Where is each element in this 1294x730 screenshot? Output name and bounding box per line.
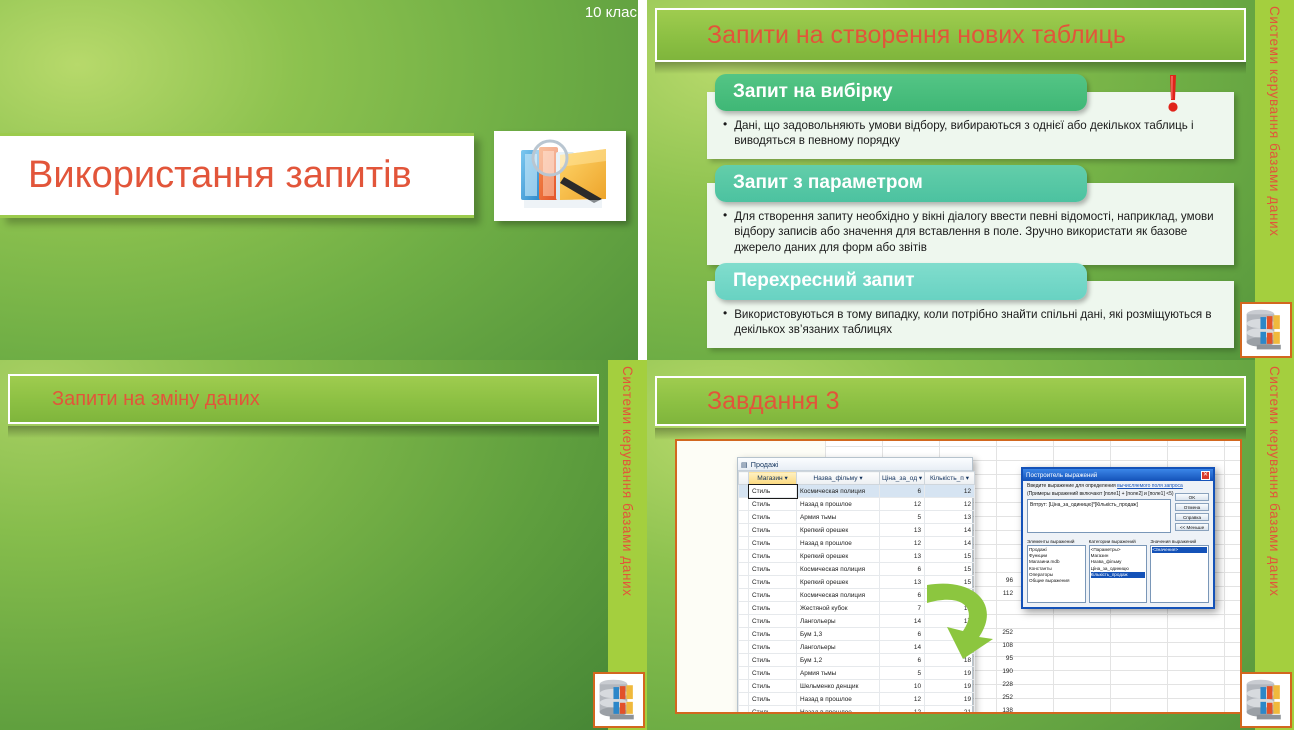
query-block-crosstab: • Використовуються в тому випадку, коли … xyxy=(707,263,1234,341)
table-cell[interactable]: 19 xyxy=(925,693,975,706)
slide2-titlebar: Запити на створення нових таблиць xyxy=(655,8,1246,62)
database-books-icon xyxy=(593,672,645,728)
table-cell[interactable]: 5 xyxy=(880,511,925,524)
table-cell[interactable]: Лангольеры xyxy=(797,615,880,628)
curved-green-arrow-icon xyxy=(917,581,1005,661)
query-block-text: Для створення запиту необхідно у вікні д… xyxy=(734,209,1220,255)
slide1-right-edge xyxy=(638,0,647,360)
table-cell[interactable]: Стиль xyxy=(749,537,797,550)
table-cell[interactable]: 19 xyxy=(925,667,975,680)
table-row[interactable]: СтильАрмия тьмы513 xyxy=(739,511,975,524)
row-selector[interactable] xyxy=(739,602,749,615)
list-item[interactable]: Кількість_продаж xyxy=(1091,572,1146,578)
row-selector[interactable] xyxy=(739,589,749,602)
help-button[interactable]: Справка xyxy=(1175,513,1209,521)
title-card: Використання запитів xyxy=(0,133,474,218)
slide-modify-data-queries: Запити на зміну даних На створення нової… xyxy=(0,360,647,730)
table-cell[interactable]: 12 xyxy=(925,485,975,498)
table-cell[interactable]: Космическая полиция xyxy=(797,485,880,498)
slide-task-3: Завдання 3 ание Перекрестный Удаление К … xyxy=(647,360,1294,730)
column-header-qty[interactable]: Кількість_п ▾ xyxy=(925,472,975,485)
calculated-cell xyxy=(973,496,1017,509)
slide3-titlebar: Запити на зміну даних xyxy=(8,374,599,424)
bullet-dot: • xyxy=(723,307,727,338)
table-icon: ▤ xyxy=(741,460,748,469)
table-cell[interactable]: Крепкий орешек xyxy=(797,576,880,589)
side-band-text: Системи керування базами даних xyxy=(1267,6,1282,237)
query-block-caption[interactable]: Запит на вибірку xyxy=(715,74,1087,111)
table-cell[interactable]: Стиль xyxy=(749,550,797,563)
row-selector[interactable] xyxy=(739,693,749,706)
table-cell[interactable]: Стиль xyxy=(749,563,797,576)
calculated-cell xyxy=(973,535,1017,548)
table-cell[interactable]: Космическая полиция xyxy=(797,589,880,602)
table-cell[interactable]: Стиль xyxy=(749,576,797,589)
query-block-caption[interactable]: Запит з параметром xyxy=(715,165,1087,202)
calculated-cell xyxy=(973,548,1017,561)
table-cell[interactable]: 13 xyxy=(925,511,975,524)
slide-title: 10 клас Використання запитів xyxy=(0,0,647,360)
dialog-hint-link[interactable]: вычисляемого поля запроса xyxy=(1117,483,1183,489)
row-selector[interactable] xyxy=(739,667,749,680)
query-block-select: • Дані, що задовольняють умови відбору, … xyxy=(707,74,1234,144)
table-cell[interactable]: Назад в прошлое xyxy=(797,706,880,715)
table-cell[interactable]: 14 xyxy=(925,524,975,537)
calculated-cell: 138 xyxy=(973,704,1017,714)
exclamation-mark-icon xyxy=(1165,74,1181,114)
dialog-buttons: OK Отмена Справка << Меньше xyxy=(1175,493,1209,531)
table-row[interactable]: СтильКосмическая полиция615 xyxy=(739,563,975,576)
table-cell[interactable]: 12 xyxy=(880,693,925,706)
title-shadow xyxy=(655,62,1246,74)
page-title: Запити на зміну даних xyxy=(10,388,260,411)
table-cell[interactable]: 15 xyxy=(925,550,975,563)
dialog-titlebar: Построитель выражений ✕ xyxy=(1023,469,1213,481)
page-title: Використання запитів xyxy=(0,154,412,197)
calculated-cell xyxy=(973,522,1017,535)
table-cell[interactable]: 12 xyxy=(880,706,925,715)
table-cell[interactable]: 6 xyxy=(880,485,925,498)
table-cell[interactable]: 13 xyxy=(880,550,925,563)
table-cell[interactable]: Бум 1,3 xyxy=(797,628,880,641)
grade-label: 10 клас xyxy=(585,4,637,21)
table-row[interactable]: СтильКрепкий орешек1314 xyxy=(739,524,975,537)
column-header-magazin[interactable]: Магазин ▾ xyxy=(749,472,797,485)
slide-create-table-queries: Запити на створення нових таблиць • Дані… xyxy=(647,0,1294,360)
table-cell[interactable]: Назад в прошлое xyxy=(797,693,880,706)
table-cell[interactable]: Назад в прошлое xyxy=(797,498,880,511)
column-header-price[interactable]: Ціна_за_од ▾ xyxy=(880,472,925,485)
row-selector[interactable] xyxy=(739,680,749,693)
slide4-titlebar: Завдання 3 xyxy=(655,376,1246,426)
list-item[interactable]: Общие выражения xyxy=(1029,578,1084,584)
table-cell[interactable]: 15 xyxy=(925,563,975,576)
query-block-text: Використовуються в тому випадку, коли по… xyxy=(734,307,1220,338)
bullet-dot: • xyxy=(723,118,727,149)
row-selector[interactable] xyxy=(739,706,749,715)
table-cell[interactable]: Лангольеры xyxy=(797,641,880,654)
table-cell[interactable]: 14 xyxy=(925,537,975,550)
table-header-row: Магазин ▾ Назва_фільму ▾ Ціна_за_од ▾ Кі… xyxy=(739,472,975,485)
table-cell[interactable]: Стиль xyxy=(749,641,797,654)
column-label: Значения выражений xyxy=(1150,539,1209,544)
calculated-cell: 252 xyxy=(973,691,1017,704)
table-cell[interactable]: 21 xyxy=(925,706,975,715)
row-selector[interactable] xyxy=(739,537,749,550)
row-selector[interactable] xyxy=(739,485,749,498)
table-cell[interactable]: Стиль xyxy=(749,589,797,602)
table-cell[interactable]: Стиль xyxy=(749,693,797,706)
table-cell[interactable]: Стиль xyxy=(749,628,797,641)
expression-elements-column: Элементы выражений ПродажіФункцииМагазин… xyxy=(1027,539,1086,603)
table-cell[interactable]: 13 xyxy=(880,524,925,537)
table-cell[interactable]: Шельменко денщик xyxy=(797,680,880,693)
table-cell[interactable]: Стиль xyxy=(749,654,797,667)
title-shadow xyxy=(8,426,599,438)
table-cell[interactable]: Стиль xyxy=(749,680,797,693)
list-item: • Для створення запиту необхідно у вікні… xyxy=(723,209,1220,255)
table-cell[interactable]: Крепкий орешек xyxy=(797,550,880,563)
column-header-film[interactable]: Назва_фільму ▾ xyxy=(797,472,880,485)
calculated-cell xyxy=(973,470,1017,483)
table-cell[interactable]: Назад в прошлое xyxy=(797,537,880,550)
query-block-caption[interactable]: Перехресний запит xyxy=(715,263,1087,300)
table-row[interactable]: СтильНазад в прошлое1212 xyxy=(739,498,975,511)
row-selector[interactable] xyxy=(739,641,749,654)
table-cell[interactable]: Жестяной кубок xyxy=(797,602,880,615)
table-cell[interactable]: Стиль xyxy=(749,511,797,524)
table-cell[interactable]: 12 xyxy=(880,537,925,550)
table-cell[interactable]: Крепкий орешек xyxy=(797,524,880,537)
less-button[interactable]: << Меньше xyxy=(1175,523,1209,531)
table-cell[interactable]: Армия тьмы xyxy=(797,511,880,524)
table-row[interactable]: СтильНазад в прошлое1219 xyxy=(739,693,975,706)
calculated-cell xyxy=(973,561,1017,574)
expression-values-list[interactable]: <Значение> xyxy=(1150,545,1209,603)
list-item[interactable]: <Значение> xyxy=(1152,547,1207,553)
table-cell[interactable]: 12 xyxy=(880,498,925,511)
page-title: Запити на створення нових таблиць xyxy=(657,21,1126,50)
page-title: Завдання 3 xyxy=(657,387,840,416)
ok-button[interactable]: OK xyxy=(1175,493,1209,501)
expression-categories-column: Категории выражений <Параметры>МагазинНа… xyxy=(1089,539,1148,603)
list-item: • Дані, що задовольняють умови відбору, … xyxy=(723,118,1220,149)
datasheet-titlebar: ▤ Продажі xyxy=(738,458,972,471)
table-cell[interactable]: Бум 1,2 xyxy=(797,654,880,667)
table-row[interactable]: СтильНазад в прошлое1214 xyxy=(739,537,975,550)
row-selector[interactable] xyxy=(739,524,749,537)
table-row[interactable]: СтильКосмическая полиция612 xyxy=(739,485,975,498)
database-books-icon xyxy=(1240,672,1292,728)
column-label: Категории выражений xyxy=(1089,539,1148,544)
row-selector[interactable] xyxy=(739,628,749,641)
table-row[interactable]: СтильШельменко денщик1019 xyxy=(739,680,975,693)
table-cell[interactable]: Космическая полиция xyxy=(797,563,880,576)
table-cell[interactable]: Стиль xyxy=(749,485,797,498)
row-selector[interactable] xyxy=(739,563,749,576)
datasheet-title: Продажі xyxy=(751,460,779,469)
expression-categories-list[interactable]: <Параметры>МагазинНазва_фільмуЦіна_за_од… xyxy=(1089,545,1148,603)
table-cell[interactable]: Стиль xyxy=(749,602,797,615)
table-row[interactable]: СтильКрепкий орешек1315 xyxy=(739,550,975,563)
expression-input[interactable]: Вптрут: [Ціна_за_одиницю]*[Кількість_про… xyxy=(1027,499,1171,533)
dialog-title: Построитель выражений xyxy=(1026,472,1097,479)
table-row[interactable]: СтильНазад в прошлое1221 xyxy=(739,706,975,715)
row-selector[interactable] xyxy=(739,576,749,589)
table-cell[interactable]: Стиль xyxy=(749,615,797,628)
close-icon[interactable]: ✕ xyxy=(1201,471,1210,480)
row-select-header xyxy=(739,472,749,485)
table-cell[interactable]: 5 xyxy=(880,667,925,680)
expression-values-column: Значения выражений <Значение> xyxy=(1150,539,1209,603)
row-selector[interactable] xyxy=(739,498,749,511)
slide-deck: 10 клас Використання запитів xyxy=(0,0,1294,730)
table-row[interactable]: СтильАрмия тьмы519 xyxy=(739,667,975,680)
query-block-parameter: • Для створення запиту необхідно у вікні… xyxy=(707,165,1234,255)
row-selector[interactable] xyxy=(739,550,749,563)
bullet-dot: • xyxy=(723,209,727,255)
calculated-cell: 228 xyxy=(973,678,1017,691)
side-band-text: Системи керування базами даних xyxy=(620,366,635,597)
query-block-text: Дані, що задовольняють умови відбору, ви… xyxy=(734,118,1220,149)
row-selector[interactable] xyxy=(739,511,749,524)
table-cell[interactable]: Армия тьмы xyxy=(797,667,880,680)
table-cell[interactable]: Стиль xyxy=(749,706,797,715)
table-cell[interactable]: 10 xyxy=(880,680,925,693)
folders-with-magnifier-icon xyxy=(494,131,626,221)
row-selector[interactable] xyxy=(739,615,749,628)
database-books-icon xyxy=(1240,302,1292,358)
dialog-columns: Элементы выражений ПродажіФункцииМагазин… xyxy=(1023,539,1213,603)
column-label: Элементы выражений xyxy=(1027,539,1086,544)
list-item: • Використовуються в тому випадку, коли … xyxy=(723,307,1220,338)
table-cell[interactable]: Стиль xyxy=(749,498,797,511)
calculated-cell: 190 xyxy=(973,665,1017,678)
side-band-text: Системи керування базами даних xyxy=(1267,366,1282,597)
calculated-cell xyxy=(973,509,1017,522)
table-cell[interactable]: Стиль xyxy=(749,524,797,537)
table-cell[interactable]: 12 xyxy=(925,498,975,511)
row-selector[interactable] xyxy=(739,654,749,667)
calculated-cell xyxy=(973,483,1017,496)
table-cell[interactable]: Стиль xyxy=(749,667,797,680)
cancel-button[interactable]: Отмена xyxy=(1175,503,1209,511)
access-screenshot: ание Перекрестный Удаление К справку Упр… xyxy=(675,439,1242,714)
expression-builder-dialog: Построитель выражений ✕ Введите выражени… xyxy=(1021,467,1215,609)
table-cell[interactable]: 19 xyxy=(925,680,975,693)
table-cell[interactable]: 6 xyxy=(880,563,925,576)
expression-elements-list[interactable]: ПродажіФункцииМагазини.mdbКонстантыОпера… xyxy=(1027,545,1086,603)
dialog-hint-1: Введите выражение для определения вычисл… xyxy=(1023,481,1213,489)
